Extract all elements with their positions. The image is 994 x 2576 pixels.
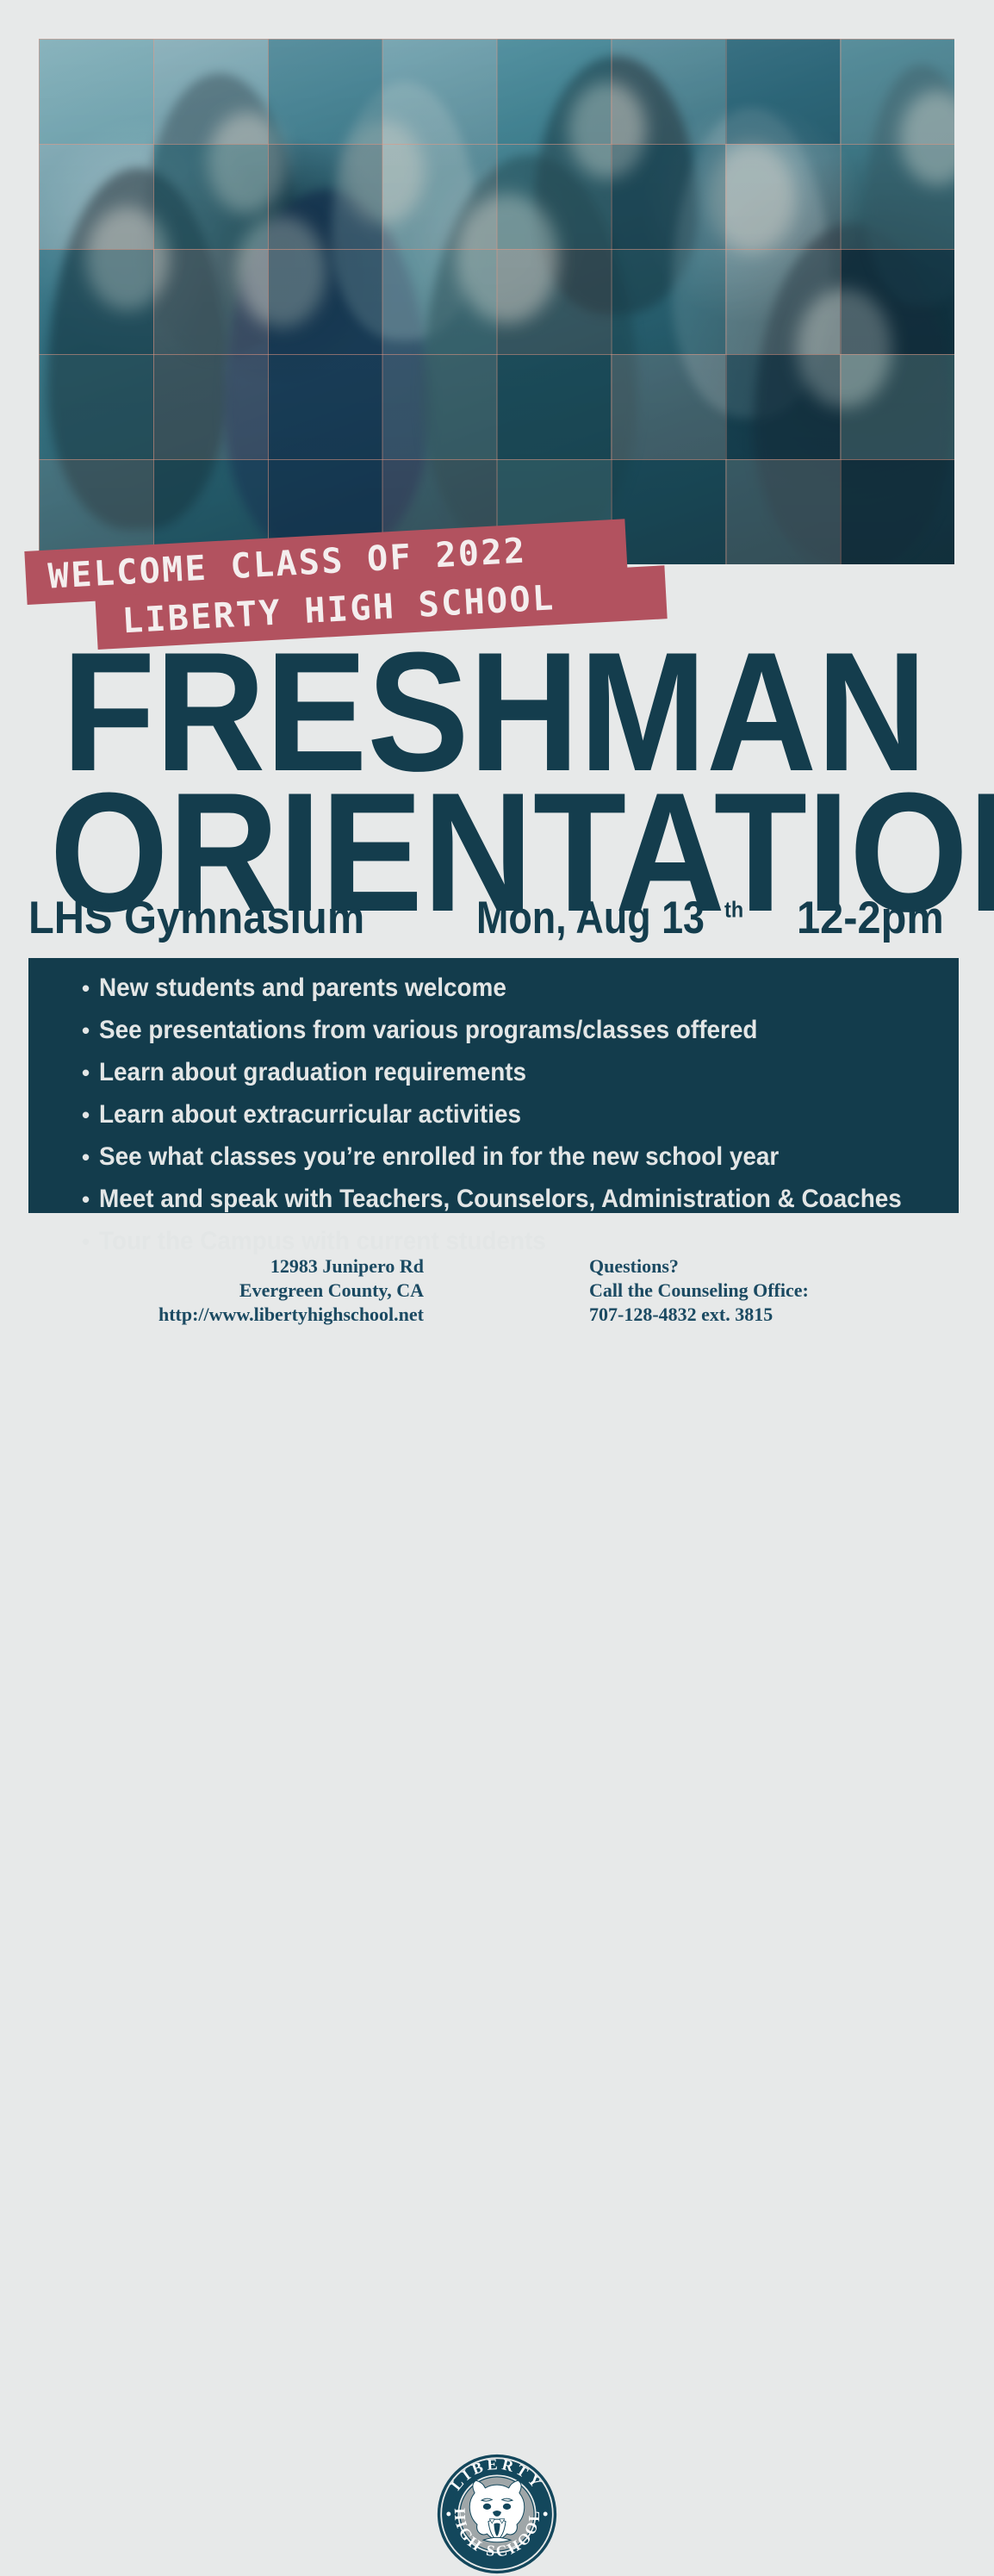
bullet-marker-icon: •: [82, 1019, 90, 1042]
bullet-item: •Meet and speak with Teachers, Counselor…: [82, 1186, 959, 1212]
bullet-text: See what classes you’re enrolled in for …: [99, 1144, 779, 1170]
contact-info: Questions? Call the Counseling Office: 7…: [589, 1254, 916, 1327]
address-line-2: Evergreen County, CA: [112, 1279, 424, 1303]
school-address: 12983 Junipero Rd Evergreen County, CA h…: [112, 1254, 424, 1327]
bullet-marker-icon: •: [82, 1188, 90, 1210]
event-date-ordinal: th: [724, 898, 743, 922]
hero-photo: [39, 39, 954, 564]
bullet-text: See presentations from various programs/…: [99, 1017, 757, 1043]
details-panel: •New students and parents welcome•See pr…: [28, 958, 959, 1213]
bullet-item: •New students and parents welcome: [82, 975, 959, 1001]
photo-gridlines: [39, 39, 954, 564]
bullet-item: •Learn about graduation requirements: [82, 1060, 959, 1086]
contact-phone: 707-128-4832 ext. 3815: [589, 1303, 916, 1327]
contact-line-2: Call the Counseling Office:: [589, 1279, 916, 1303]
bullet-item: •See what classes you’re enrolled in for…: [82, 1144, 959, 1170]
bullet-marker-icon: •: [82, 1146, 90, 1168]
bullet-marker-icon: •: [82, 1104, 90, 1126]
event-date: Mon, Aug 13th: [476, 892, 743, 944]
logo-dot-left: [446, 2512, 450, 2517]
event-time: 12-2pm: [797, 892, 944, 944]
logo-dot-right: [544, 2512, 548, 2517]
bullet-marker-icon: •: [82, 1061, 90, 1084]
bullet-item: •Learn about extracurricular activities: [82, 1102, 959, 1128]
school-website-link[interactable]: http://www.libertyhighschool.net: [112, 1303, 424, 1327]
logo-svg: LIBERTY HIGH SCHOOL: [435, 2452, 559, 2576]
footer: 12983 Junipero Rd Evergreen County, CA h…: [0, 1222, 994, 1365]
school-logo: LIBERTY HIGH SCHOOL: [435, 2452, 559, 2576]
page-title: FRESHMAN ORIENTATION: [0, 639, 994, 926]
bullet-text: Learn about graduation requirements: [99, 1060, 526, 1086]
bullet-text: Learn about extracurricular activities: [99, 1102, 521, 1128]
address-line-1: 12983 Junipero Rd: [112, 1254, 424, 1279]
bullet-item: •See presentations from various programs…: [82, 1017, 959, 1043]
bullet-text: Meet and speak with Teachers, Counselors…: [99, 1186, 902, 1212]
bullet-marker-icon: •: [82, 977, 90, 999]
event-date-text: Mon, Aug 13: [476, 892, 705, 944]
event-meta: LHS Gymnasium Mon, Aug 13th 12-2pm: [28, 892, 959, 944]
event-venue: LHS Gymnasium: [28, 892, 364, 944]
contact-line-1: Questions?: [589, 1254, 916, 1279]
poster-page: WELCOME CLASS OF 2022 LIBERTY HIGH SCHOO…: [0, 0, 994, 1365]
bullet-text: New students and parents welcome: [99, 975, 506, 1001]
bullet-list: •New students and parents welcome•See pr…: [28, 958, 959, 1254]
